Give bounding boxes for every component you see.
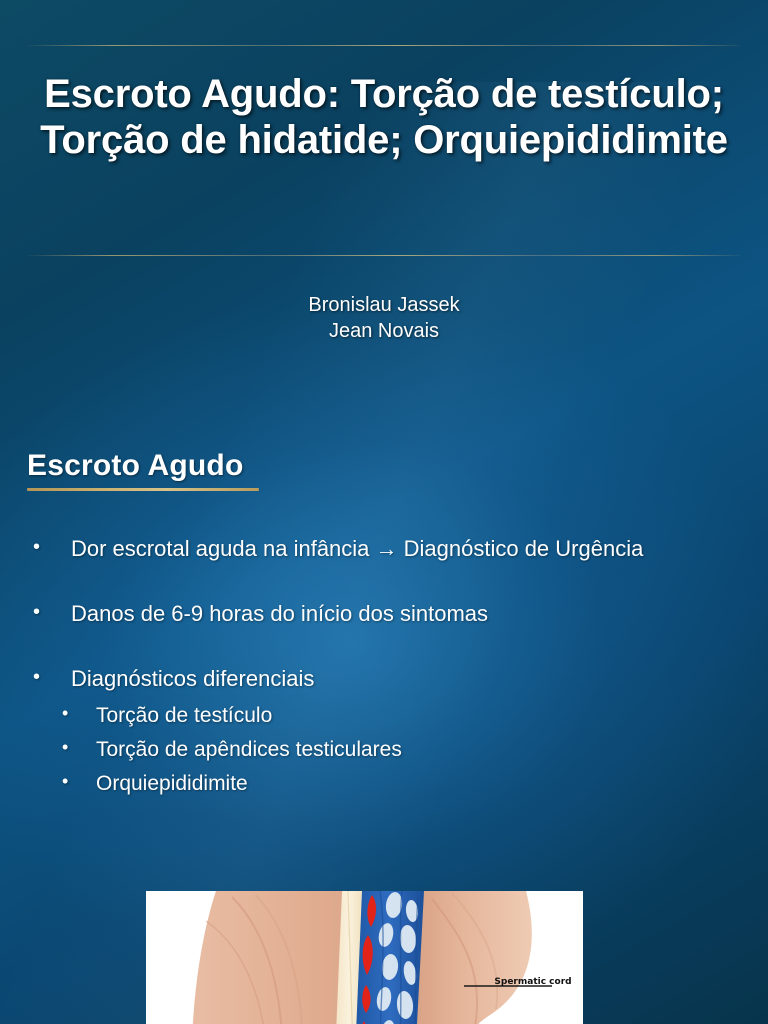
title-divider-bottom [28,255,740,256]
bullet-marker-icon: • [62,772,96,792]
author-name-1: Bronislau Jassek [0,293,768,319]
bullet-marker-icon: • [33,666,71,688]
section-heading: Escroto Agudo [27,449,243,483]
list-item-label: Torção de testículo [96,704,768,728]
list-item-label: Diagnósticos diferenciais [71,666,768,692]
page-title: Escroto Agudo: Torção de testículo; Torç… [0,72,768,163]
list-item-label: Dor escrotal aguda na infância → Diagnós… [71,536,768,562]
spermatic-cord-illustration-icon [146,891,583,1024]
anatomy-figure: Spermatic cord [146,891,583,1024]
bullet-list: • Dor escrotal aguda na infância → Diagn… [0,536,768,806]
list-item-label: Danos de 6-9 horas do início dos sintoma… [71,601,768,627]
list-item: • Torção de testículo [0,704,768,728]
list-item-label: Orquiepididimite [96,772,768,796]
list-item: • Danos de 6-9 horas do início dos sinto… [0,601,768,627]
bullet-marker-icon: • [62,704,96,724]
list-item: • Torção de apêndices testiculares [0,738,768,762]
bullet-marker-icon: • [62,738,96,758]
figure-caption: Spermatic cord [487,977,579,988]
list-item-label: Torção de apêndices testiculares [96,738,768,762]
author-name-2: Jean Novais [0,319,768,345]
list-item: • Orquiepididimite [0,772,768,796]
bullet-marker-icon: • [33,601,71,623]
section-heading-underline [27,488,259,491]
title-divider-top [28,45,740,46]
list-item: • Dor escrotal aguda na infância → Diagn… [0,536,768,562]
list-item: • Diagnósticos diferenciais [0,666,768,692]
authors-block: Bronislau Jassek Jean Novais [0,293,768,344]
presentation-slide: Escroto Agudo: Torção de testículo; Torç… [0,0,768,1024]
anatomy-figure-canvas: Spermatic cord [146,891,583,1024]
bullet-marker-icon: • [33,536,71,558]
